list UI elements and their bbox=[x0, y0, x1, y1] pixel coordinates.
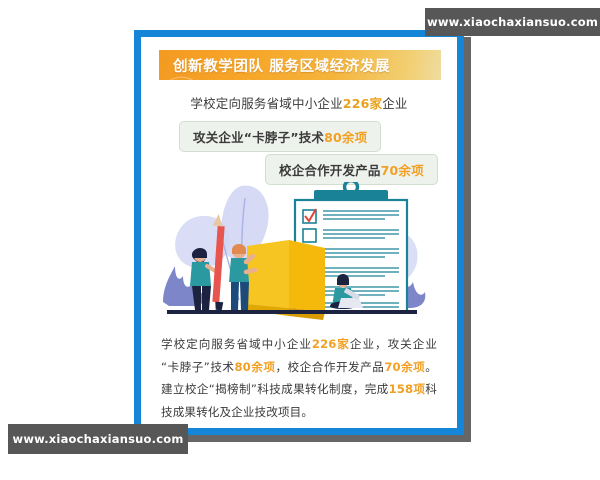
body-seg-5: 70余项 bbox=[384, 360, 425, 374]
stat-pill-2-number: 70余项 bbox=[381, 163, 424, 178]
header-banner: 创新教学团队 服务区域经济发展 bbox=[159, 50, 441, 80]
body-seg-3: 80余项 bbox=[235, 360, 276, 374]
teamwork-checklist-illustration bbox=[149, 182, 449, 327]
watermark-bottom: www.xiaochaxiansuo.com bbox=[8, 424, 188, 454]
stat-pill-1: 攻关企业“卡脖子”技术80余项 bbox=[179, 121, 381, 152]
body-seg-1: 226家 bbox=[312, 337, 350, 351]
body-seg-0: 学校定向服务省域中小企业 bbox=[161, 337, 312, 351]
open-book bbox=[245, 240, 325, 320]
body-seg-7: 158项 bbox=[389, 382, 426, 396]
stat-pill-2-prefix: 校企合作开发产品 bbox=[279, 163, 381, 178]
watermark-bottom-text: www.xiaochaxiansuo.com bbox=[13, 432, 184, 446]
stat-pill-2: 校企合作开发产品70余项 bbox=[265, 154, 438, 185]
headline-prefix: 学校定向服务省域中小企业 bbox=[190, 96, 342, 111]
ground-line bbox=[167, 310, 417, 314]
headline-number: 226家 bbox=[343, 96, 382, 111]
watermark-top-text: www.xiaochaxiansuo.com bbox=[427, 15, 598, 29]
watermark-top: www.xiaochaxiansuo.com bbox=[425, 8, 600, 36]
headline: 学校定向服务省域中小企业226家企业 bbox=[141, 93, 457, 112]
banner-title: 创新教学团队 服务区域经济发展 bbox=[173, 55, 390, 76]
stat-pill-1-number: 80余项 bbox=[324, 130, 367, 145]
headline-suffix: 企业 bbox=[382, 96, 407, 111]
stat-pill-1-prefix: 攻关企业“卡脖子”技术 bbox=[193, 130, 324, 145]
info-card: 创新教学团队 服务区域经济发展 学校定向服务省域中小企业226家企业 攻关企业“… bbox=[134, 30, 464, 435]
body-seg-4: ，校企合作开发产品 bbox=[275, 360, 384, 374]
card-inner-surface: 创新教学团队 服务区域经济发展 学校定向服务省域中小企业226家企业 攻关企业“… bbox=[141, 37, 457, 428]
body-paragraph: 学校定向服务省域中小企业226家企业，攻关企业“卡脖子”技术80余项，校企合作开… bbox=[161, 333, 437, 423]
